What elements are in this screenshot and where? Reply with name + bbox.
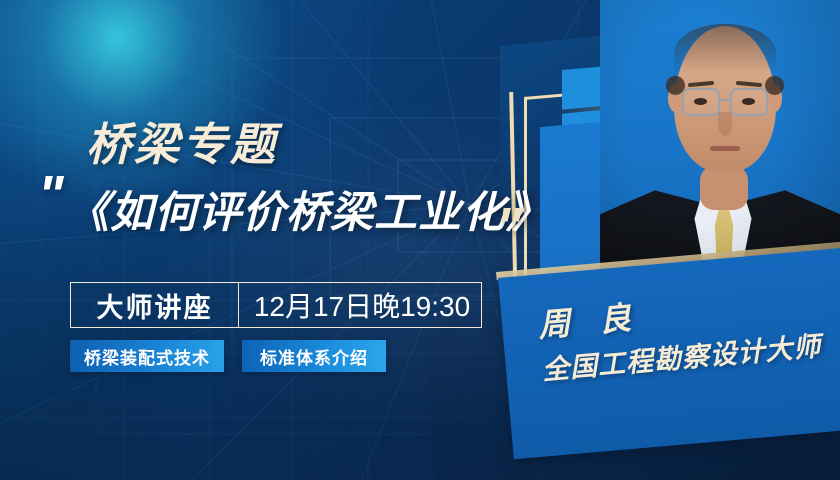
quote-close-icon: " xyxy=(496,200,522,254)
page-subtitle: 《如何评价桥梁工业化》 xyxy=(66,178,550,240)
page-title: 桥梁专题 xyxy=(86,108,278,173)
topic-tag: 标准体系介绍 xyxy=(242,340,386,372)
quote-open-icon: " xyxy=(38,168,64,222)
event-datetime: 12月17日晚19:30 xyxy=(239,283,481,327)
lecture-poster: 周 良 全国工程勘察设计大师 桥梁专题 " 《如何评价桥梁工业化》 " 大师讲座… xyxy=(0,0,840,480)
speaker-nameplate: 周 良 全国工程勘察设计大师 xyxy=(498,246,840,459)
topic-tag-list: 桥梁装配式技术 标准体系介绍 xyxy=(70,340,386,372)
lecture-label: 大师讲座 xyxy=(71,283,239,327)
event-info-bar: 大师讲座 12月17日晚19:30 xyxy=(70,282,482,328)
topic-tag: 桥梁装配式技术 xyxy=(70,340,224,372)
